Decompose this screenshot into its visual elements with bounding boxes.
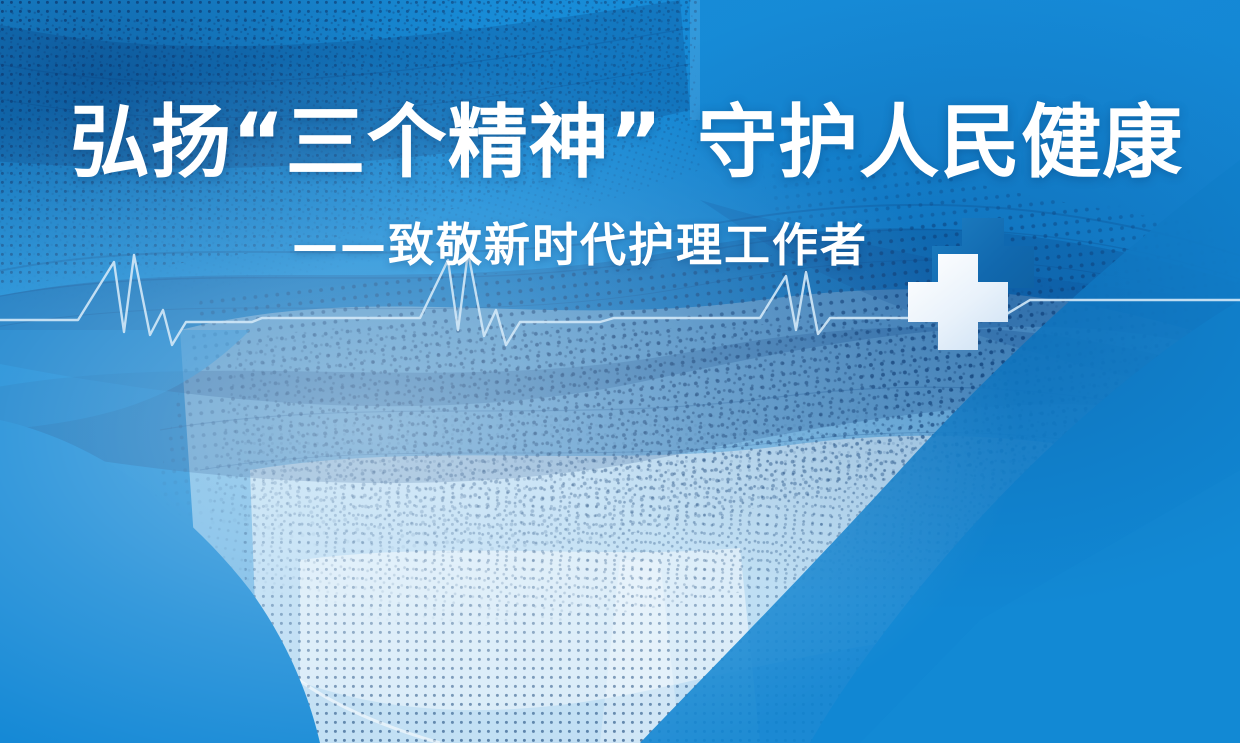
- page-title: 弘扬“三个精神”守护人民健康: [70, 100, 1180, 186]
- health-campaign-banner: 弘扬“三个精神”守护人民健康 ——致敬新时代护理工作者: [0, 0, 1240, 743]
- page-title-part-2: 守护人民健康: [697, 96, 1183, 189]
- page-subtitle: ——致敬新时代护理工作者: [292, 218, 868, 272]
- page-title-part-1: 弘扬“三个精神”: [70, 96, 663, 189]
- medical-cross-group: [900, 196, 1060, 356]
